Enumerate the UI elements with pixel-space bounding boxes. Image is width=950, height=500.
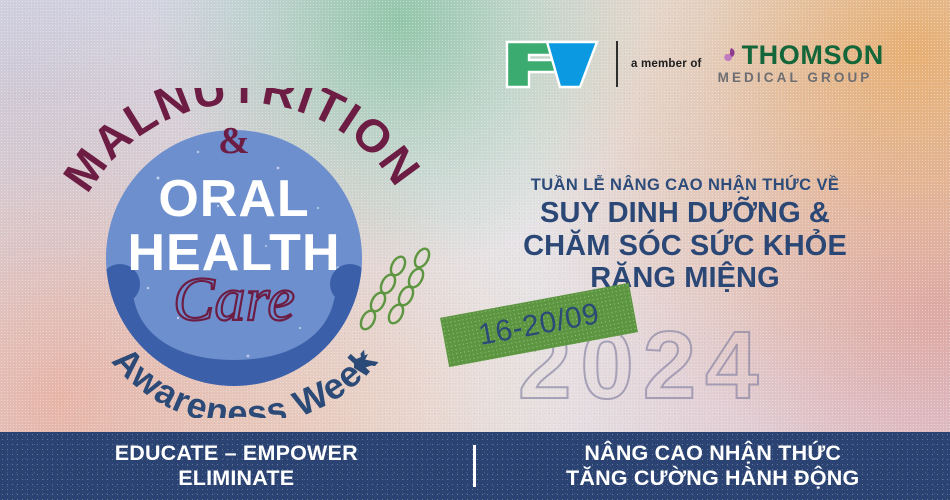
- partner-logo-bar: a member of THOMSON MEDICAL GROUP: [505, 38, 884, 90]
- member-of-label: a member of: [631, 58, 702, 70]
- slogan-vietnamese-line-2: TĂNG CƯỜNG HÀNH ĐỘNG: [476, 466, 950, 491]
- fv-logo: [505, 38, 603, 90]
- thomson-subtitle: MEDICAL GROUP: [718, 70, 873, 85]
- thomson-medical-group-logo: THOMSON MEDICAL GROUP: [717, 43, 884, 86]
- slogan-english-line-2: ELIMINATE: [0, 466, 473, 491]
- slogan-vietnamese-line-1: NÂNG CAO NHẬN THỨC: [476, 441, 950, 466]
- emblem-script-care: Care: [173, 266, 295, 334]
- emblem-ampersand: &: [218, 120, 250, 162]
- headline-block: TUẦN LỄ NÂNG CAO NHẬN THỨC VỀ SUY DINH D…: [470, 176, 900, 295]
- mother-child-icon: [717, 46, 739, 68]
- headline-line-2: CHĂM SÓC SỨC KHỎE: [470, 230, 900, 262]
- thomson-wordmark: THOMSON: [742, 43, 884, 69]
- headline-line-1: SUY DINH DƯỠNG &: [470, 197, 900, 229]
- slogan-english: EDUCATE – EMPOWER ELIMINATE: [0, 441, 473, 492]
- awareness-week-banner: a member of THOMSON MEDICAL GROUP: [0, 0, 950, 500]
- malnutrition-oral-health-emblem: & ORAL HEALTH Care MALNUTRITION Awarenes…: [38, 88, 458, 418]
- emblem-line-oral: ORAL: [158, 170, 309, 228]
- headline-line-3: RĂNG MIỆNG: [470, 262, 900, 294]
- bottom-slogan-bar: EDUCATE – EMPOWER ELIMINATE NÂNG CAO NHẬ…: [0, 432, 950, 500]
- wheat-grain-icon: [358, 246, 432, 331]
- headline-kicker: TUẦN LỄ NÂNG CAO NHẬN THỨC VỀ: [470, 176, 900, 194]
- slogan-vietnamese: NÂNG CAO NHẬN THỨC TĂNG CƯỜNG HÀNH ĐỘNG: [476, 441, 950, 492]
- slogan-english-line-1: EDUCATE – EMPOWER: [0, 441, 473, 466]
- logo-divider: [616, 41, 618, 87]
